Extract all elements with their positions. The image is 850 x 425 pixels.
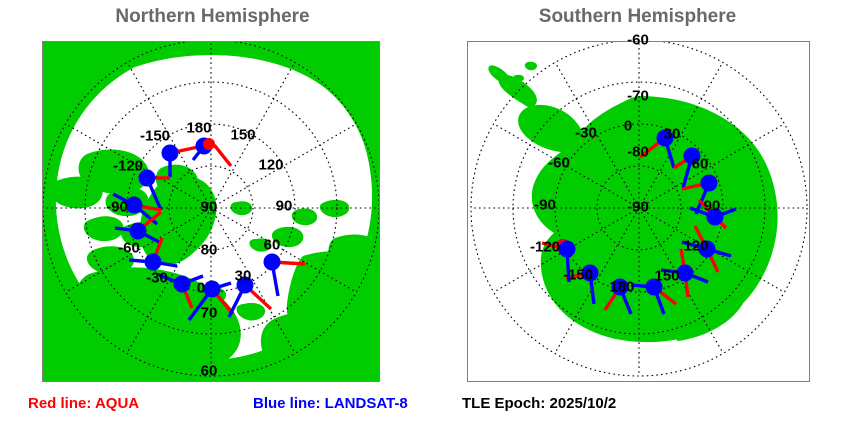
lon-label-30: 30 <box>664 127 681 142</box>
lon-label-0: 0 <box>624 119 632 134</box>
lat-label-neg90: -90 <box>627 200 649 215</box>
northern-hemisphere-panel: Northern Hemisphere <box>0 0 425 385</box>
satellite-marker <box>126 197 143 214</box>
lon-label-150: 150 <box>654 269 679 284</box>
lon-label-180: 180 <box>186 121 211 136</box>
lon-label-neg60: -60 <box>548 156 570 171</box>
lon-label-neg120: -120 <box>113 159 143 174</box>
lon-label-60: 60 <box>264 238 281 253</box>
lon-label-neg120: -120 <box>530 240 560 255</box>
legend: Red line: AQUA Blue line: LANDSAT-8 TLE … <box>0 392 850 420</box>
lon-label-90: 90 <box>276 199 293 214</box>
lon-label-30: 30 <box>235 269 252 284</box>
lon-label-neg30: -30 <box>146 271 168 286</box>
lat-label-neg70: -70 <box>627 89 649 104</box>
lon-label-neg90: -90 <box>106 200 128 215</box>
lon-label-150: 150 <box>230 128 255 143</box>
southern-hemisphere-panel: Southern Hemisphere <box>425 0 850 385</box>
lon-label-120: 120 <box>683 239 708 254</box>
satellite-marker <box>145 254 162 271</box>
lat-label-neg80: -80 <box>627 145 649 160</box>
satellite-marker <box>559 241 576 258</box>
lon-label-neg90: -90 <box>534 198 556 213</box>
lat-label-70: 70 <box>201 306 218 321</box>
lon-label-neg30: -30 <box>575 126 597 141</box>
legend-item-tle-epoch: TLE Epoch: 2025/10/2 <box>462 396 616 411</box>
legend-item-aqua: Red line: AQUA <box>28 396 139 411</box>
lon-label-60: 60 <box>692 157 709 172</box>
lon-label-neg150: -150 <box>563 268 593 283</box>
lat-label-neg60: -60 <box>627 33 649 48</box>
satellite-marker <box>264 254 281 271</box>
lon-label-neg150: -150 <box>140 129 170 144</box>
northern-hemisphere-title: Northern Hemisphere <box>0 6 425 28</box>
lon-label-90: 90 <box>704 199 721 214</box>
satellite-marker <box>130 223 147 240</box>
southern-hemisphere-title: Southern Hemisphere <box>425 6 850 28</box>
satellite-marker <box>174 276 191 293</box>
satellite-marker <box>162 145 179 162</box>
satellite-marker-red <box>203 138 215 150</box>
lon-label-180: 180 <box>609 280 634 295</box>
lon-label-neg60: -60 <box>118 241 140 256</box>
lon-label-0: 0 <box>197 281 205 296</box>
lat-label-60: 60 <box>201 364 218 379</box>
lat-label-80: 80 <box>201 243 218 258</box>
lon-label-120: 120 <box>258 158 283 173</box>
satellite-marker <box>701 175 718 192</box>
legend-item-landsat: Blue line: LANDSAT-8 <box>253 396 408 411</box>
lat-label-90: 90 <box>201 200 218 215</box>
satellite-marker <box>204 281 221 298</box>
